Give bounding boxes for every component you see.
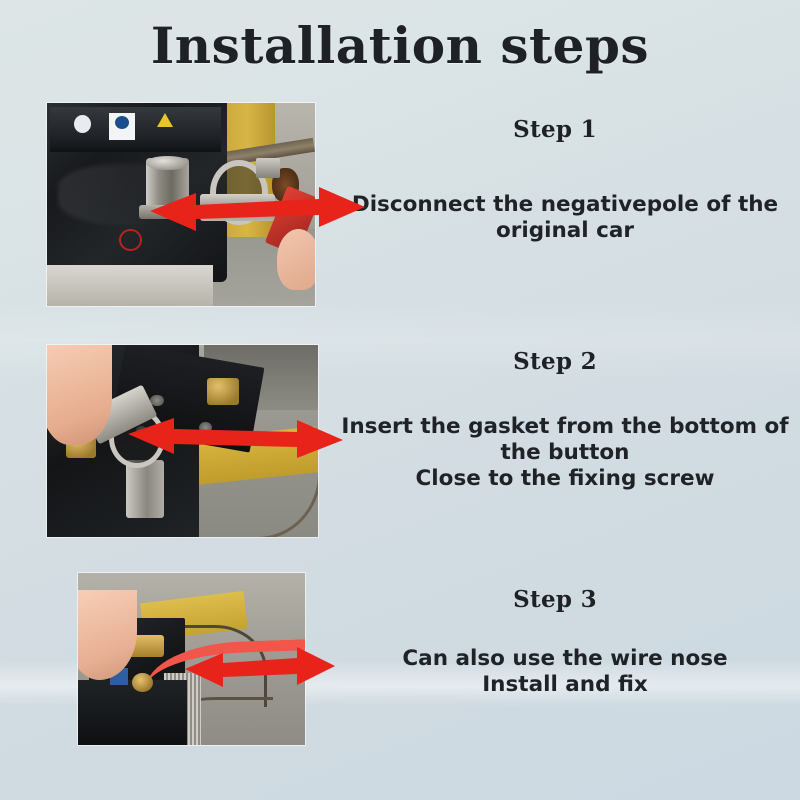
step-1-label: Step 1 — [345, 116, 765, 143]
photo-hand — [47, 345, 112, 445]
step-2-description: Insert the gasket from the bottom of the… — [330, 414, 800, 493]
step-2-label: Step 2 — [345, 348, 765, 375]
step-row-2: Step 2 Insert the gasket from the bottom… — [0, 342, 800, 542]
step-3-description: Can also use the wire nose Install and f… — [330, 646, 800, 698]
step-2-description-line-1: Insert the gasket from the bottom of — [330, 414, 800, 440]
photo-terminal-post-top — [146, 156, 189, 170]
step-row-3: Step 3 Can also use the wire nose Instal… — [0, 570, 800, 750]
step-1-description-line-1: Disconnect the negativepole of the — [330, 192, 800, 218]
step-3-description-line-2: Install and fix — [330, 672, 800, 698]
step-2-description-line-3: Close to the fixing screw — [330, 466, 800, 492]
photo-clamp-bolt — [256, 158, 280, 178]
page-title: Installation steps — [0, 16, 800, 75]
photo-red-marking — [119, 229, 142, 251]
photo-terminal-post-base — [139, 205, 195, 219]
step-1-description: Disconnect the negativepole of the origi… — [330, 192, 800, 244]
photo-battery-label-s-badge — [115, 116, 129, 129]
photo-hand — [277, 229, 315, 290]
installation-steps-page: Installation steps Step — [0, 0, 800, 800]
photo-clamp-body — [200, 194, 275, 220]
step-3-label: Step 3 — [345, 586, 765, 613]
battery-negative-terminal-photo — [47, 103, 315, 306]
photo-battery-tray — [47, 265, 213, 306]
step-2-description-line-2: the button — [330, 440, 800, 466]
photo-brass-screw — [132, 673, 152, 692]
wire-nose-install-photo — [78, 573, 305, 745]
step-1-description-line-2: original car — [330, 218, 800, 244]
photo-brass-nut — [207, 378, 240, 405]
step-3-description-line-1: Can also use the wire nose — [330, 646, 800, 672]
step-row-1: Step 1 Disconnect the negativepole of th… — [0, 100, 800, 315]
photo-warning-triangle-icon — [157, 113, 173, 127]
gasket-insert-photo — [47, 345, 318, 537]
photo-terminal-post — [126, 460, 164, 518]
